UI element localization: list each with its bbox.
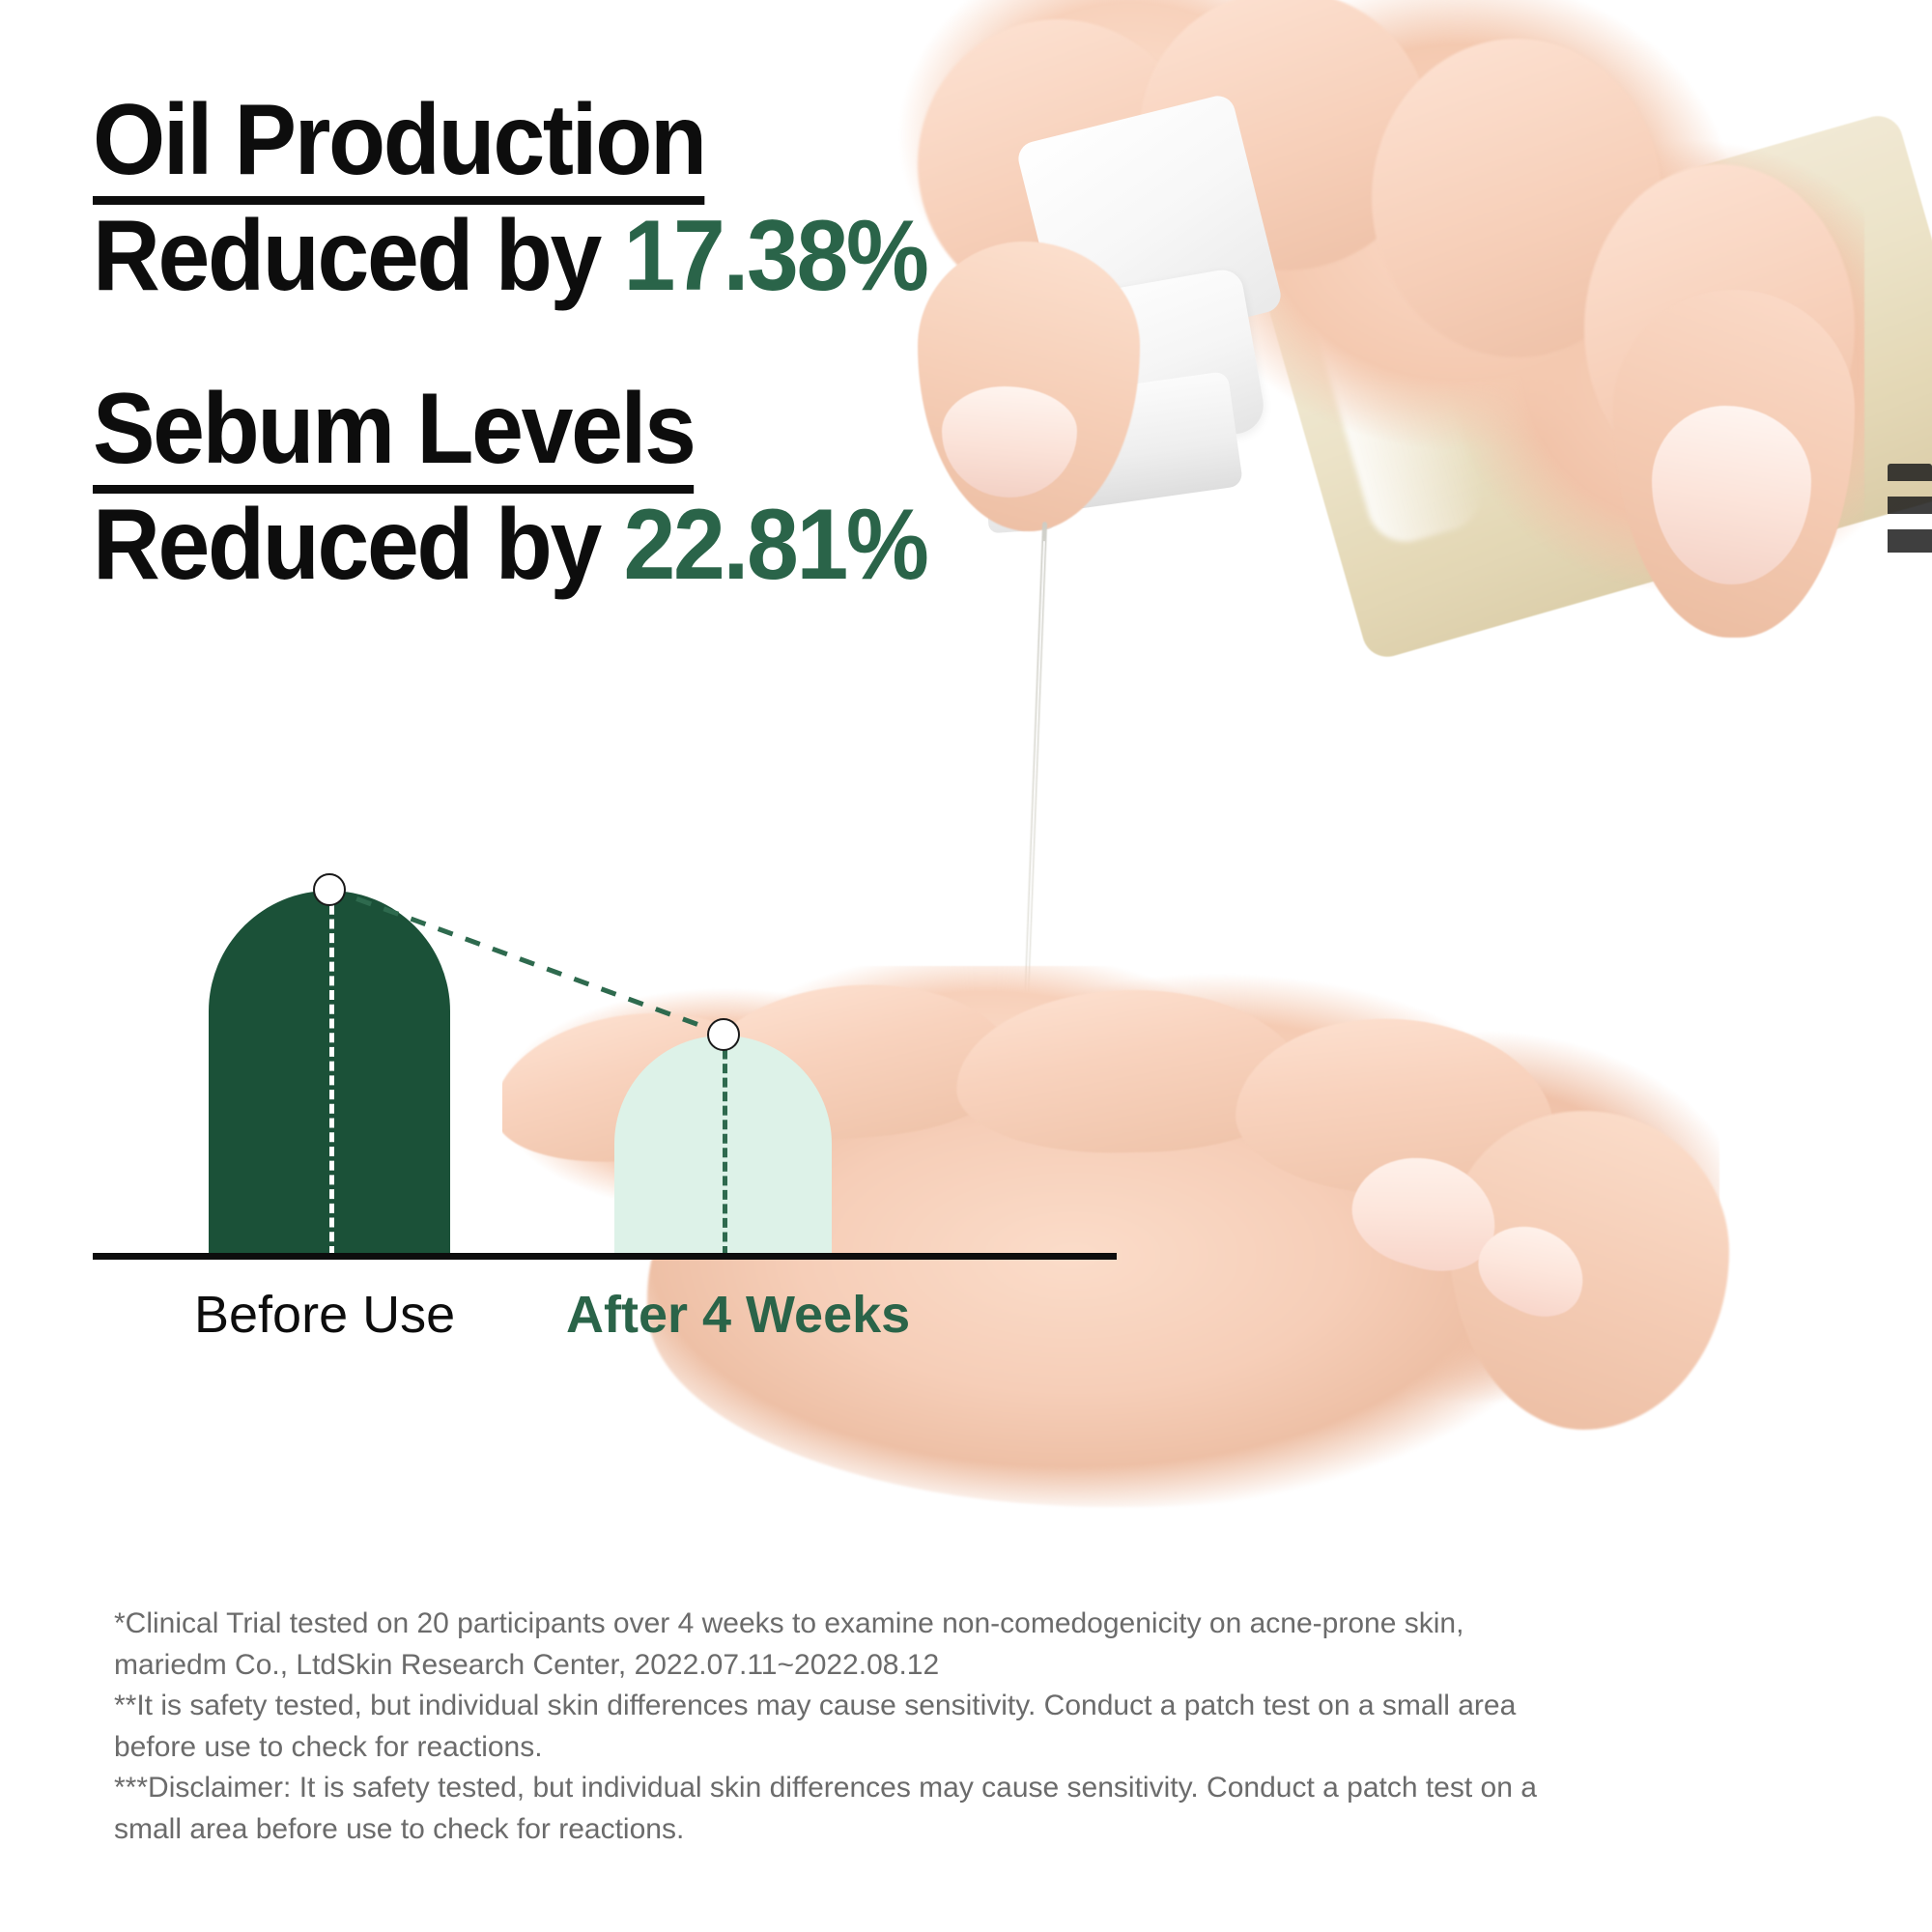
headline-group: Oil Production Reduced by 17.38% Sebum L…: [93, 89, 1059, 597]
knuckle: [1372, 39, 1662, 357]
bottle-brand-mark: [1888, 464, 1932, 580]
footnote-line: before use to check for reactions.: [114, 1727, 1853, 1769]
chart-baseline-axis: [93, 1253, 1117, 1260]
footnote-line: *Clinical Trial tested on 20 participant…: [114, 1604, 1853, 1645]
oil-reduction-value: 17.38%: [624, 200, 927, 312]
axis-label-before-use: Before Use: [194, 1285, 455, 1345]
bottle-highlight: [1292, 213, 1491, 551]
headline-value-row-oil: Reduced by 17.38%: [93, 205, 991, 308]
thumbnail: [1652, 406, 1811, 584]
marker-after-4-weeks: [707, 1018, 740, 1051]
finger: [1231, 1009, 1561, 1207]
bottle-body: [1264, 110, 1932, 663]
fingernail: [1465, 1209, 1599, 1331]
thumb: [1613, 290, 1855, 638]
headline-block-sebum: Sebum Levels Reduced by 22.81%: [93, 378, 1059, 597]
footnote-line: small area before use to check for react…: [114, 1809, 1853, 1851]
infographic-page: Oil Production Reduced by 17.38% Sebum L…: [0, 0, 1932, 1932]
headline-value-row-sebum: Reduced by 22.81%: [93, 494, 991, 597]
knuckle: [1140, 0, 1430, 270]
trend-connector: [93, 850, 1117, 1256]
footnote-line: **It is safety tested, but individual sk…: [114, 1686, 1853, 1727]
headline-title-row-sebum: Sebum Levels: [93, 378, 991, 494]
sebum-reduction-value: 22.81%: [624, 489, 927, 601]
page-title-oil: Oil Production: [93, 89, 705, 205]
reduced-by-label-sebum: Reduced by: [93, 489, 624, 601]
axis-label-after-4-weeks: After 4 Weeks: [566, 1285, 910, 1345]
footnote-line: ***Disclaimer: It is safety tested, but …: [114, 1768, 1853, 1809]
chart-axis-labels: Before Use After 4 Weeks: [93, 1285, 1117, 1352]
fingernail: [1340, 1141, 1509, 1285]
headline-block-oil: Oil Production Reduced by 17.38%: [93, 89, 1059, 308]
reduced-by-label-oil: Reduced by: [93, 200, 624, 312]
before-after-bar-chart: [93, 850, 1117, 1256]
lower-thumb: [1449, 1111, 1729, 1430]
footnote-group: *Clinical Trial tested on 20 participant…: [114, 1604, 1853, 1851]
page-title-sebum: Sebum Levels: [93, 378, 695, 494]
footnote-line: mariedm Co., LtdSkin Research Center, 20…: [114, 1645, 1853, 1687]
marker-before-use: [313, 873, 346, 906]
headline-title-row: Oil Production: [93, 89, 991, 205]
knuckle: [1584, 164, 1855, 493]
